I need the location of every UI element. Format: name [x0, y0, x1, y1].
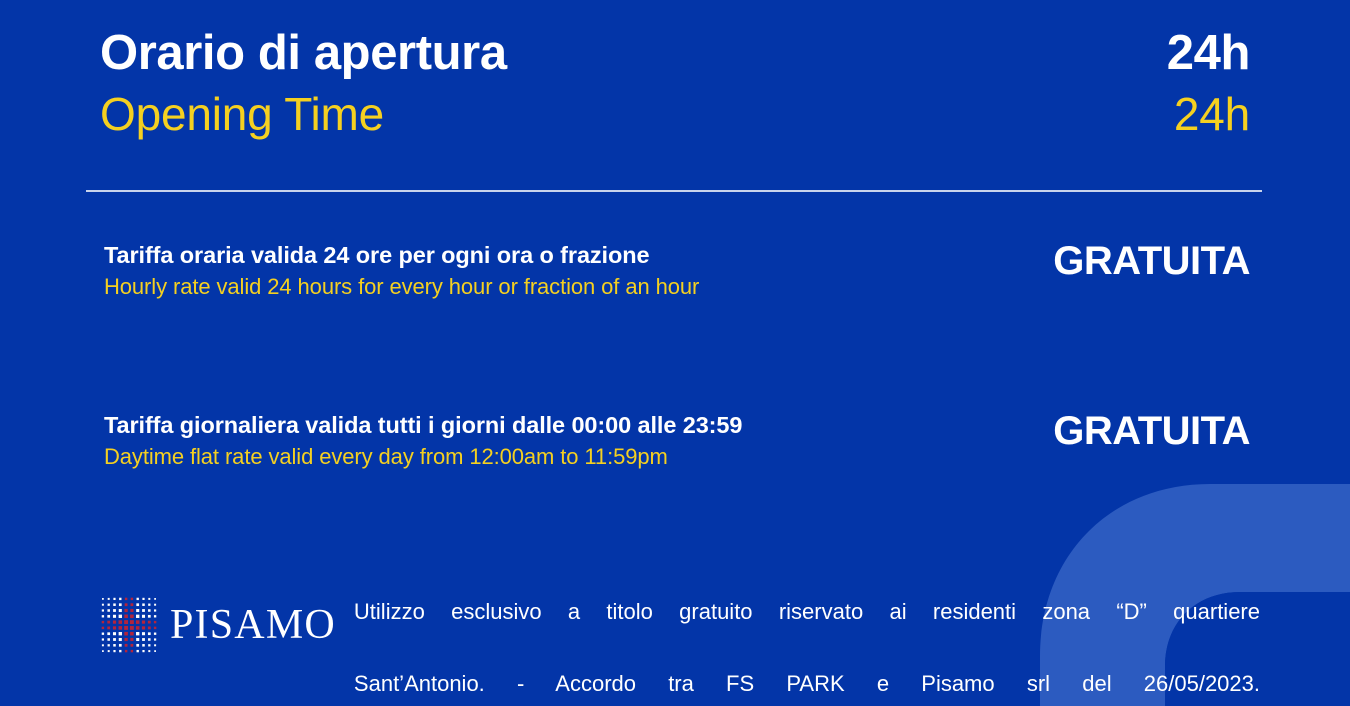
rate-hourly-label-italian: Tariffa oraria valida 24 ore per ogni or… [104, 240, 699, 271]
rate-row-daily: Tariffa giornaliera valida tutti i giorn… [104, 410, 1250, 473]
pisamo-wordmark: PISAMO [170, 602, 336, 648]
footer: PISAMO Utilizzo esclusivo a titolo gratu… [100, 592, 1260, 706]
header-divider [86, 190, 1262, 192]
opening-hours-value-english: 24h [1174, 84, 1250, 144]
opening-hours-value-italian: 24h [1167, 22, 1250, 84]
footer-note: Utilizzo esclusivo a titolo gratuito ris… [354, 592, 1260, 706]
footer-note-line-1: Utilizzo esclusivo a titolo gratuito ris… [354, 594, 1260, 666]
header: Orario di apertura 24h Opening Time 24h [100, 22, 1250, 144]
rate-row-daily-texts: Tariffa giornaliera valida tutti i giorn… [104, 410, 742, 473]
pisamo-logo-icon [100, 596, 158, 654]
rate-row-hourly-texts: Tariffa oraria valida 24 ore per ogni or… [104, 240, 699, 303]
rate-daily-label-italian: Tariffa giornaliera valida tutti i giorn… [104, 410, 742, 441]
rate-hourly-price: GRATUITA [1053, 240, 1250, 282]
rate-daily-label-english: Daytime flat rate valid every day from 1… [104, 441, 742, 473]
rate-row-hourly: Tariffa oraria valida 24 ore per ogni or… [104, 240, 1250, 303]
parking-tariff-sign: Orario di apertura 24h Opening Time 24h … [0, 0, 1350, 706]
header-row-italian: Orario di apertura 24h [100, 22, 1250, 84]
page-title-italian: Orario di apertura [100, 22, 507, 84]
header-row-english: Opening Time 24h [100, 84, 1250, 144]
footer-note-line-2: Sant’Antonio. - Accordo tra FS PARK e Pi… [354, 666, 1260, 706]
page-title-english: Opening Time [100, 84, 384, 144]
rate-daily-price: GRATUITA [1053, 410, 1250, 452]
rate-hourly-label-english: Hourly rate valid 24 hours for every hou… [104, 271, 699, 303]
pisamo-brand: PISAMO [100, 592, 336, 654]
